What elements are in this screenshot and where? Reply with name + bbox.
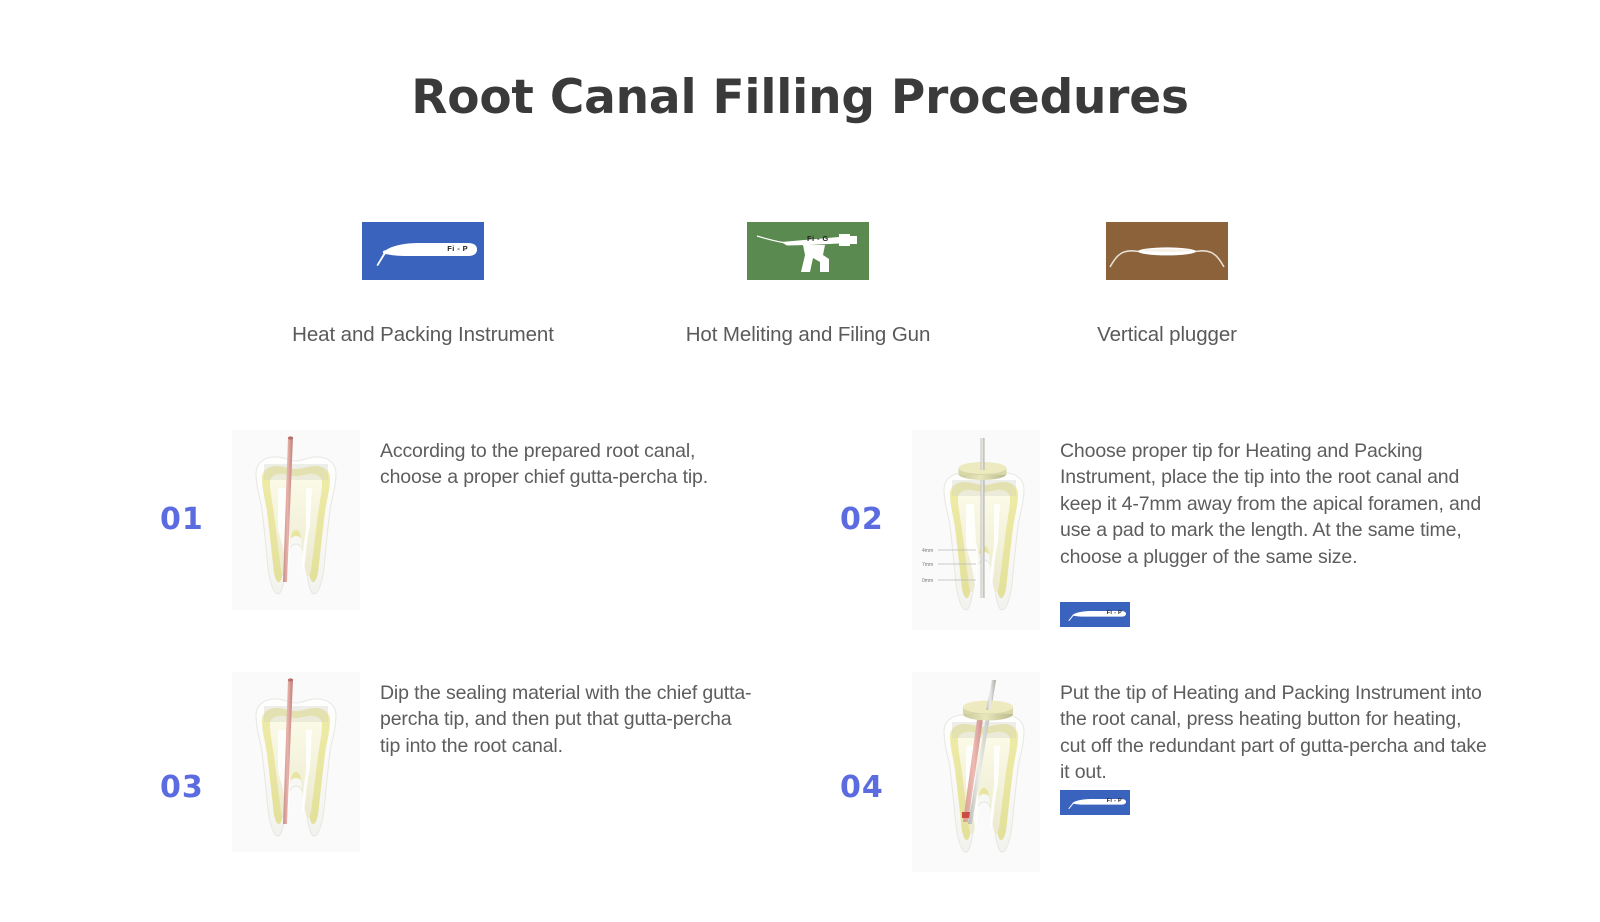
step-illustration-panel <box>232 430 360 610</box>
step-number: 03 <box>160 770 204 805</box>
step-number: 04 <box>840 770 884 805</box>
instrument-caption: Vertical plugger <box>992 323 1342 347</box>
step-item-02: 02 <box>820 430 1540 680</box>
instrument-legend: Fi - P Heat and Packing Instrument Fi - … <box>232 222 1342 352</box>
instrument-card-vertical-plugger[interactable]: Vertical plugger <box>992 222 1342 347</box>
instrument-icon-box-blue: Fi - P <box>362 222 484 280</box>
instrument-code-label: Fi - P <box>447 244 468 253</box>
step-item-04: 04 <box>820 672 1540 922</box>
step-illustration-panel <box>912 672 1040 872</box>
instrument-code-label: Fi - G <box>807 234 829 243</box>
step-illustration-panel <box>232 672 360 852</box>
vertical-plugger-icon <box>1106 222 1228 280</box>
step-description: According to the prepared root canal, ch… <box>380 438 752 491</box>
svg-text:4mm: 4mm <box>922 548 933 554</box>
step-description: Put the tip of Heating and Packing Instr… <box>1060 680 1488 786</box>
instrument-icon-box-green: Fi - G <box>747 222 869 280</box>
instrument-card-heat-packing[interactable]: Fi - P Heat and Packing Instrument <box>232 222 614 347</box>
instrument-card-filing-gun[interactable]: Fi - G Hot Meliting and Filing Gun <box>618 222 998 347</box>
page-title: Root Canal Filling Procedures <box>0 70 1600 125</box>
tooth-with-gutta-percha-point-illustration <box>232 430 360 610</box>
step-item-03: 03 <box>140 672 860 922</box>
step-badge-fi-p[interactable]: Fi - P <box>1060 602 1130 627</box>
step-number: 02 <box>840 502 884 537</box>
step-illustration-panel: 4mm 7mm 0mm <box>912 430 1040 630</box>
instrument-caption: Hot Meliting and Filing Gun <box>618 323 998 347</box>
tooth-with-instrument-and-stopper-illustration: 4mm 7mm 0mm <box>912 430 1040 630</box>
badge-code-label: Fi - P <box>1107 610 1122 616</box>
step-badge-fi-p[interactable]: Fi - P <box>1060 790 1130 815</box>
instrument-icon-box-brown <box>1106 222 1228 280</box>
tooth-with-tilted-instrument-illustration <box>912 672 1040 872</box>
step-description: Dip the sealing material with the chief … <box>380 680 752 759</box>
svg-text:0mm: 0mm <box>922 578 933 584</box>
instrument-caption: Heat and Packing Instrument <box>232 323 614 347</box>
step-number: 01 <box>160 502 204 537</box>
svg-text:7mm: 7mm <box>922 562 933 568</box>
tooth-with-gutta-percha-point-illustration <box>232 672 360 852</box>
badge-code-label: Fi - P <box>1107 798 1122 804</box>
step-item-01: 01 <box>140 430 860 680</box>
filling-gun-icon <box>747 222 869 280</box>
step-description: Choose proper tip for Heating and Packin… <box>1060 438 1488 570</box>
